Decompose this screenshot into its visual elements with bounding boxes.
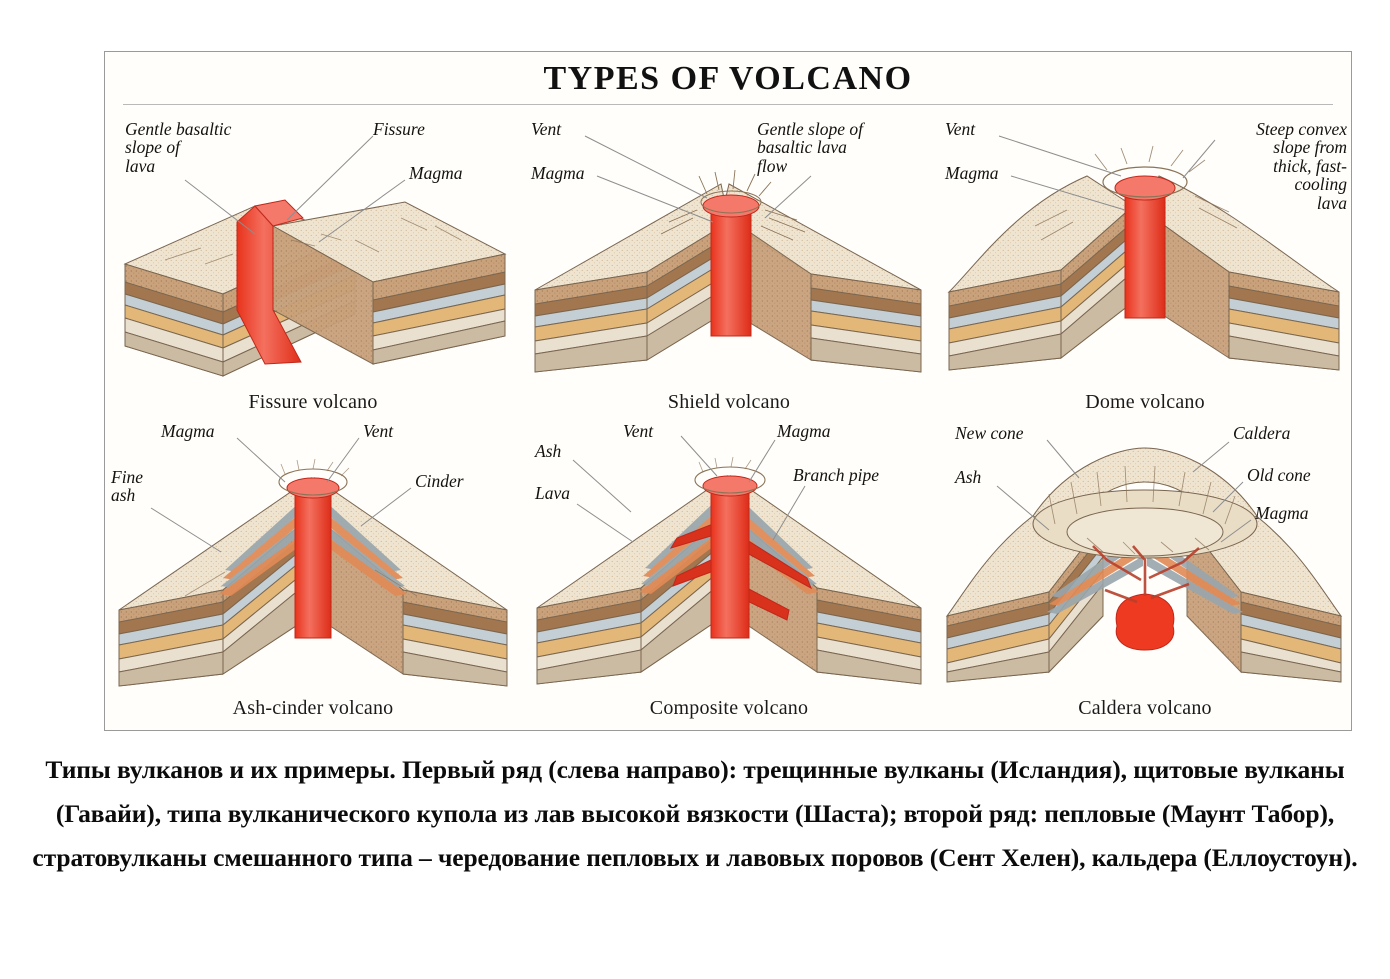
caption-ash-cinder-volcano: Ash-cinder volcano — [105, 697, 521, 720]
figure-title: TYPES OF VOLCANO — [105, 60, 1351, 98]
label-vent: Vent — [623, 422, 653, 440]
label-cinder: Cinder — [415, 472, 464, 490]
label-gentle-basaltic-slope-of-lava: Gentle basaltic slope of lava — [125, 120, 231, 175]
label-gentle-slope-of-basaltic-lava-flow: Gentle slope of basaltic lava flow — [757, 120, 863, 175]
label-steep-convex-slope: Steep convex slope from thick, fast- coo… — [1256, 120, 1347, 212]
label-caldera: Caldera — [1233, 424, 1290, 442]
label-new-cone: New cone — [955, 424, 1024, 442]
shield-illustration — [521, 114, 937, 382]
label-vent: Vent — [531, 120, 561, 138]
panel-caldera: New cone Caldera Ash Old cone Magma Cald… — [937, 420, 1353, 726]
label-magma: Magma — [1255, 504, 1308, 522]
panel-ash-cinder: Magma Vent Fine ash Cinder Ash-cinder vo… — [105, 420, 521, 726]
figure-caption-russian: Типы вулканов и их примеры. Первый ряд (… — [20, 748, 1370, 880]
label-magma: Magma — [161, 422, 214, 440]
ash-cinder-illustration — [105, 420, 521, 688]
composite-illustration — [521, 420, 937, 688]
volcano-grid: Gentle basaltic slope of lava Fissure Ma… — [105, 114, 1353, 726]
label-magma: Magma — [945, 164, 998, 182]
label-magma: Magma — [409, 164, 462, 182]
volcano-figure-page: TYPES OF VOLCANO — [0, 0, 1390, 979]
caption-composite-volcano: Composite volcano — [521, 697, 937, 720]
title-divider — [123, 104, 1333, 105]
label-ash: Ash — [535, 442, 561, 460]
label-old-cone: Old cone — [1247, 466, 1311, 484]
label-vent: Vent — [363, 422, 393, 440]
caption-dome-volcano: Dome volcano — [937, 391, 1353, 414]
panel-fissure: Gentle basaltic slope of lava Fissure Ma… — [105, 114, 521, 420]
label-vent: Vent — [945, 120, 975, 138]
label-branch-pipe: Branch pipe — [793, 466, 879, 484]
label-fine-ash: Fine ash — [111, 468, 143, 505]
panel-shield: Vent Magma Gentle slope of basaltic lava… — [521, 114, 937, 420]
label-fissure: Fissure — [373, 120, 425, 138]
figure-frame: TYPES OF VOLCANO — [104, 51, 1352, 731]
label-ash: Ash — [955, 468, 981, 486]
label-magma: Magma — [777, 422, 830, 440]
caldera-illustration — [937, 420, 1353, 688]
panel-composite: Vent Magma Ash Lava Branch pipe Composit… — [521, 420, 937, 726]
label-magma: Magma — [531, 164, 584, 182]
panel-dome: Vent Magma Steep convex slope from thick… — [937, 114, 1353, 420]
caption-caldera-volcano: Caldera volcano — [937, 697, 1353, 720]
label-lava: Lava — [535, 484, 570, 502]
caption-fissure-volcano: Fissure volcano — [105, 391, 521, 414]
caption-shield-volcano: Shield volcano — [521, 391, 937, 414]
